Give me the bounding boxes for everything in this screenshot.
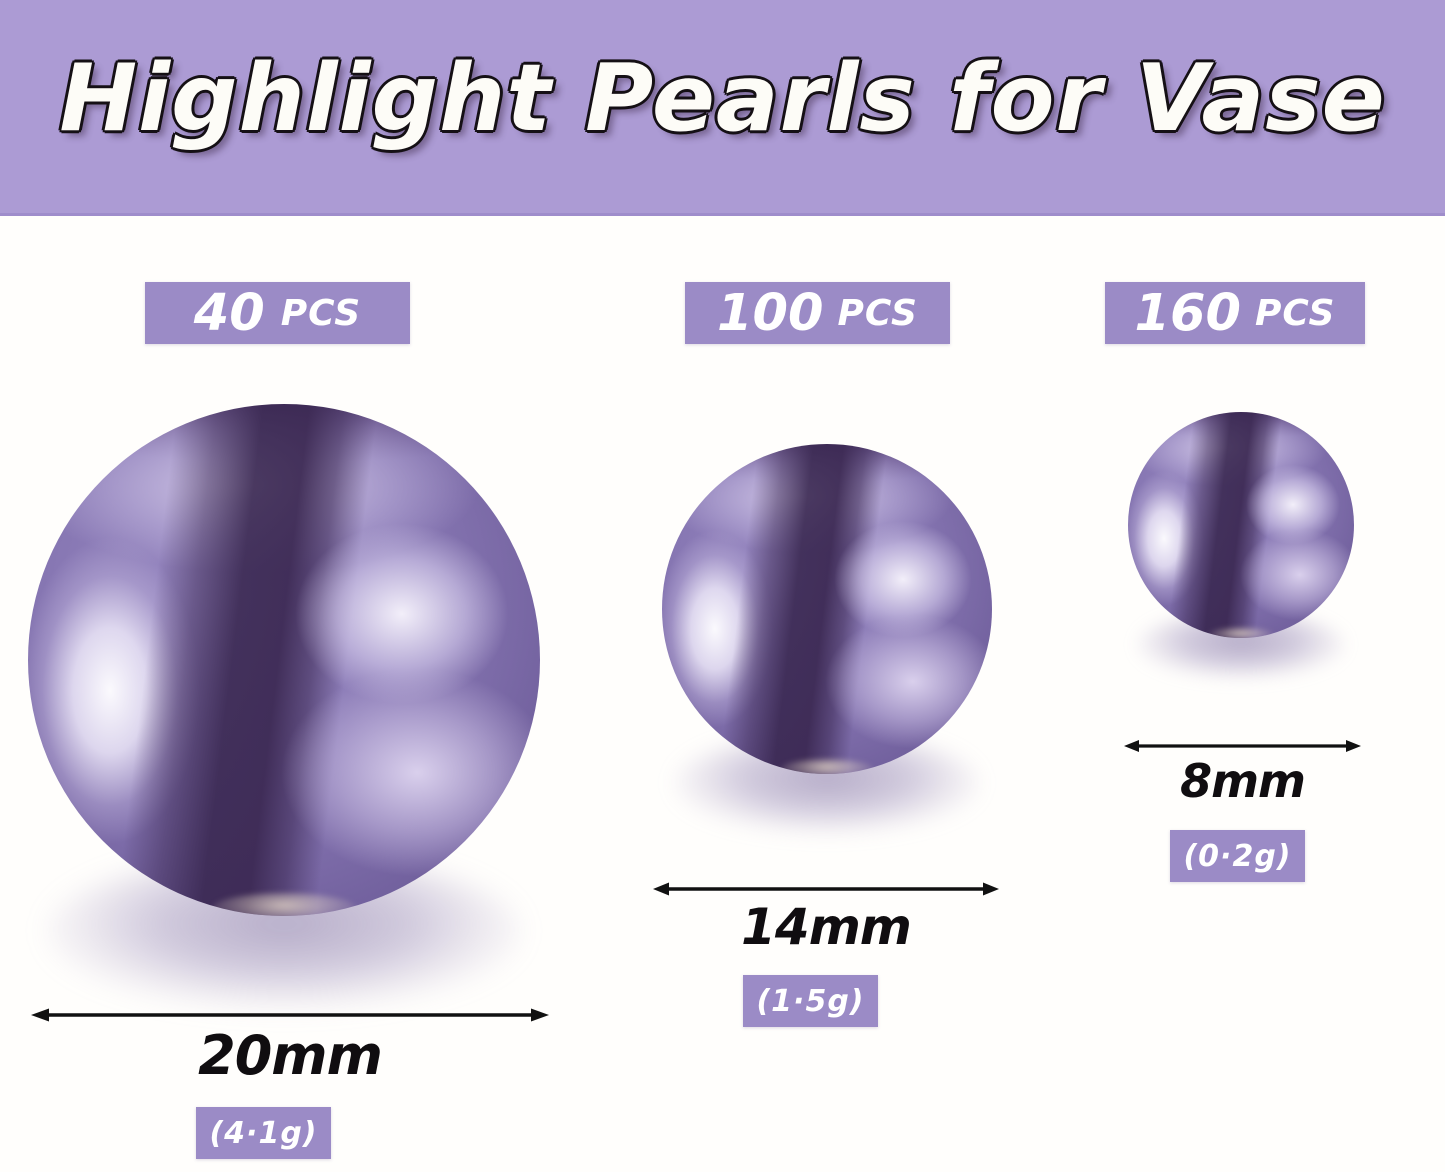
pearl-image-20mm [28, 404, 540, 916]
product-variant-column-20mm: 40 PCS 20mm (4·1g) [0, 216, 580, 1172]
diameter-label-8mm: 8mm [1123, 754, 1362, 808]
count-badge-unit: PCS [281, 293, 361, 334]
weight-badge-14mm: (1·5g) [743, 975, 878, 1027]
weight-badge-20mm: (4·1g) [196, 1107, 331, 1159]
pearl-contact-highlight [1209, 628, 1272, 638]
count-badge-unit: PCS [838, 293, 918, 334]
weight-badge-8mm: (0·2g) [1170, 830, 1305, 882]
pearl-image-14mm [662, 444, 992, 774]
count-badge-40pcs: 40 PCS [145, 282, 410, 344]
product-variant-column-14mm: 100 PCS 14mm (1·5g) [600, 216, 1060, 1172]
count-badge-100pcs: 100 PCS [685, 282, 950, 344]
product-variant-column-8mm: 160 PCS 8mm (0·2g) [1080, 216, 1445, 1172]
page-title: Highlight Pearls for Vase [0, 50, 1445, 148]
header-banner: Highlight Pearls for Vase [0, 0, 1445, 216]
count-badge-unit: PCS [1255, 293, 1335, 334]
pearl-image-8mm [1128, 412, 1354, 638]
count-badge-number: 160 [1135, 284, 1241, 343]
diameter-label-20mm: 20mm [30, 1024, 550, 1087]
pearl-contact-highlight [781, 759, 873, 774]
pearl-sphere [662, 444, 992, 774]
count-badge-number: 40 [194, 284, 265, 343]
count-badge-number: 100 [717, 284, 823, 343]
pearl-sphere [1128, 412, 1354, 638]
pearl-sphere [28, 404, 540, 916]
pearl-contact-highlight [212, 893, 355, 916]
count-badge-160pcs: 160 PCS [1105, 282, 1365, 344]
diameter-label-14mm: 14mm [652, 898, 1000, 956]
